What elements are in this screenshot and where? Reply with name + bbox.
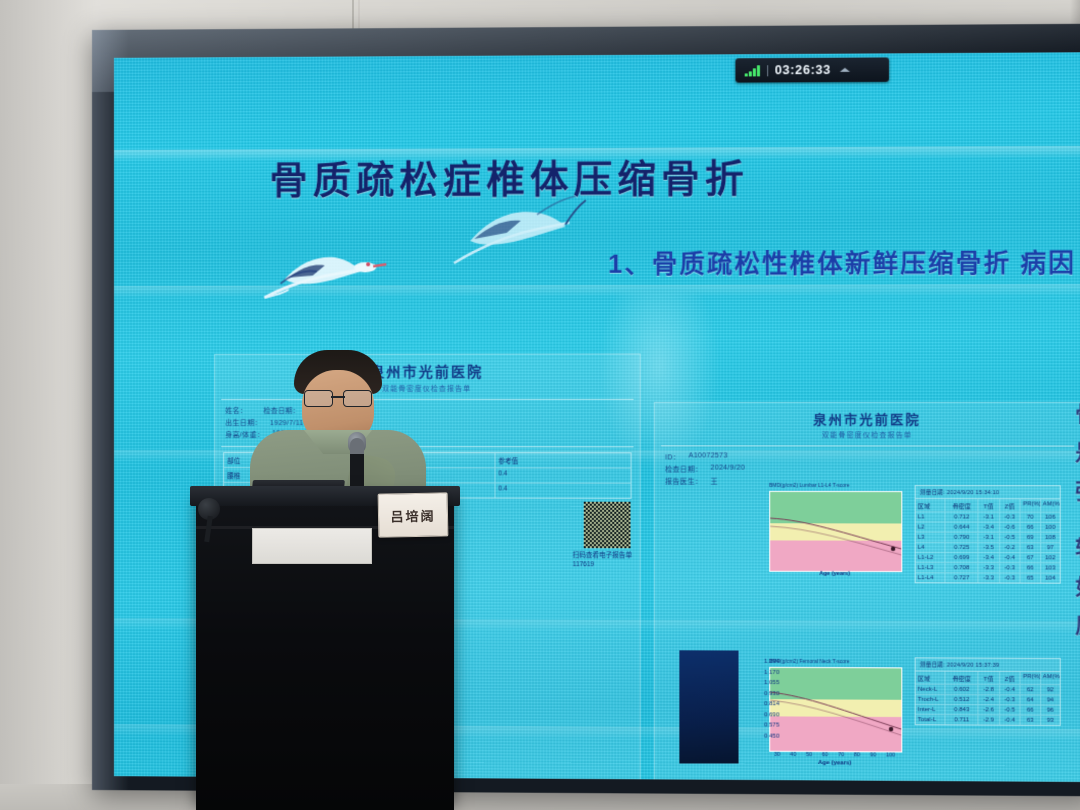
field-label: 姓名： — [225, 406, 247, 416]
cell: L1-L4 — [916, 573, 946, 582]
table-row: L1 0.712 -3.1 -0.3 70 106 — [916, 512, 1060, 522]
cell: -2.9 — [978, 715, 999, 724]
table-row: L3 0.790 -3.1 -0.5 69 108 — [916, 533, 1060, 543]
nameplate-text: 吕培阔 — [390, 505, 435, 525]
cell: 65 — [1021, 573, 1041, 582]
column-header: 区域 — [916, 671, 946, 683]
cell: 66 — [1021, 523, 1041, 532]
column-header: AM(%) — [1041, 499, 1060, 511]
table-row: L4 0.725 -3.5 -0.2 63 97 — [916, 543, 1060, 553]
cell: -0.4 — [1000, 553, 1021, 562]
chart-reference-curve — [770, 492, 901, 571]
cell: 0.708 — [946, 563, 979, 572]
cell: 102 — [1041, 553, 1060, 562]
table-row: Neck-L 0.602 -2.8 -0.4 62 92 — [916, 685, 1060, 696]
cell: L2 — [916, 523, 946, 532]
cell: 0.790 — [946, 533, 979, 542]
slide-subtitle: 1、骨质疏松性椎体新鲜压缩骨折 病因 — [608, 243, 1080, 281]
table-row: Troch-L 0.512 -2.4 -0.3 64 94 — [916, 695, 1060, 706]
cell: -0.3 — [1000, 513, 1021, 522]
cell: L1 — [916, 512, 946, 521]
field-value: A10072573 — [688, 452, 727, 462]
cell: 92 — [1041, 685, 1060, 694]
bmd-chart-femur-xlabel: Age (years) — [769, 760, 900, 767]
cell: 0.512 — [946, 695, 979, 704]
cell: -2.6 — [978, 705, 999, 714]
cell: 106 — [1041, 513, 1060, 522]
ytick: 0.450 — [745, 731, 780, 742]
field-value: 2024/9/20 — [710, 465, 745, 475]
cell: -0.2 — [1000, 543, 1021, 552]
cell: 97 — [1041, 543, 1060, 552]
cell: -2.4 — [978, 695, 999, 704]
report-field-row: 检查日期： 2024/9/20 — [655, 463, 1080, 476]
column-header: T值 — [978, 499, 999, 511]
column-header: 参考值 — [495, 453, 630, 467]
ytick: 1.170 — [745, 667, 780, 678]
cell: 64 — [1021, 695, 1041, 704]
cell: -0.5 — [1000, 533, 1021, 542]
cell: 100 — [1041, 523, 1060, 532]
cell: 63 — [1021, 716, 1041, 725]
cell: -0.3 — [1000, 563, 1021, 572]
table-row: Total-L 0.711 -2.9 -0.4 63 93 — [916, 715, 1060, 725]
cell: -0.6 — [1000, 523, 1021, 532]
cell: -2.8 — [978, 685, 999, 694]
dxa-scan-image — [679, 650, 738, 763]
column-header: 区域 — [916, 499, 946, 511]
cell: 0.602 — [946, 685, 979, 694]
caret-up-icon — [840, 68, 850, 72]
cell: -0.4 — [1000, 685, 1021, 694]
cell: 96 — [1041, 706, 1060, 715]
qr-code-icon — [584, 502, 631, 548]
divider — [661, 445, 1074, 446]
bmd-chart-lumbar — [769, 491, 902, 572]
bmd-chart-femur — [769, 667, 902, 753]
dxa-scan-axis-values: 1.294 1.170 1.055 0.930 0.814 0.690 0.57… — [745, 657, 780, 742]
report-subtitle: 双能骨密度仪检查报告单 — [655, 430, 1080, 440]
cell: 66 — [1021, 563, 1041, 572]
cell: 93 — [1041, 716, 1060, 725]
cell: 69 — [1021, 533, 1041, 542]
bmd-chart-femur-title: BMD(g/cm2) Femoral Neck T-score — [769, 659, 900, 666]
table-header-row: 区域 骨密度 T值 Z值 PR(%) AM(%) — [916, 671, 1060, 685]
cell: L1-L2 — [916, 553, 946, 562]
qr-number: 117619 — [573, 560, 654, 569]
cell: 0.711 — [946, 715, 979, 724]
cell: -3.4 — [978, 553, 999, 562]
cell: -3.1 — [978, 512, 999, 521]
cell: 0.712 — [946, 512, 979, 521]
session-timer: 03:26:33 — [775, 63, 831, 77]
cell: -0.3 — [1000, 573, 1021, 582]
ytick: 0.930 — [745, 688, 780, 699]
cell: -3.5 — [978, 543, 999, 552]
column-header: PR(%) — [1021, 499, 1041, 511]
column-header: 骨密度 — [946, 499, 979, 511]
cell: -3.4 — [978, 523, 999, 532]
cell: -3.3 — [978, 573, 999, 582]
cell: 70 — [1021, 513, 1041, 522]
ytick: 1.294 — [745, 657, 780, 668]
cell: -3.3 — [978, 563, 999, 572]
report-hospital-name: 泉州市光前医院 — [655, 403, 1080, 428]
dxa-results-table-lower: 测量日期: 2024/9/20 15:37:39 区域 骨密度 T值 Z值 PR… — [915, 657, 1061, 726]
column-header: 骨密度 — [946, 672, 979, 684]
table-row: L1-L4 0.727 -3.3 -0.3 65 104 — [916, 573, 1060, 583]
table-row: L2 0.644 -3.4 -0.6 66 100 — [916, 523, 1060, 533]
qr-caption-text: 扫码查看电子报告单 — [573, 551, 654, 560]
cell: 63 — [1021, 543, 1041, 552]
column-header: Z值 — [1000, 499, 1021, 511]
cell: 0.727 — [946, 573, 979, 582]
cell: Troch-L — [916, 695, 946, 704]
column-header: Z值 — [1000, 672, 1021, 684]
photo-scene: 03:26:33 — [0, 0, 1080, 810]
cell: Inter-L — [916, 705, 946, 714]
eyeglasses-icon — [304, 390, 372, 405]
table-row: L1-L2 0.699 -3.4 -0.4 67 102 — [916, 553, 1060, 563]
chart-reference-curve — [770, 668, 901, 752]
slide-title: 骨质疏松症椎体压缩骨折 — [269, 146, 981, 204]
wall-shadow — [0, 0, 96, 810]
cell: 104 — [1041, 574, 1060, 583]
column-header: T值 — [978, 672, 999, 684]
cell: 0.4 — [495, 483, 630, 497]
cell: 66 — [1021, 705, 1041, 714]
cell: 0.699 — [946, 553, 979, 562]
signal-bars-icon — [745, 65, 760, 76]
bmd-chart-lumbar-xlabel: Age (years) — [769, 571, 900, 577]
speaker-nameplate: 吕培阔 — [378, 492, 449, 537]
field-label: 检查日期： — [665, 465, 702, 475]
cell: L1-L3 — [916, 563, 946, 572]
dxa-results-table-upper: 测量日期: 2024/9/20 15:34:10 区域 骨密度 T值 Z值 PR… — [915, 485, 1061, 584]
table-header-row: 区域 骨密度 T值 Z值 PR(%) AM(%) — [916, 499, 1060, 512]
table-row: L1-L3 0.708 -3.3 -0.3 66 103 — [916, 563, 1060, 574]
crane-illustration — [254, 233, 387, 320]
ytick: 0.575 — [745, 720, 780, 731]
cell: 62 — [1021, 685, 1041, 694]
cell: 108 — [1041, 533, 1060, 542]
ytick: 0.690 — [745, 710, 780, 721]
cell: 0.725 — [946, 543, 979, 552]
cell: Neck-L — [916, 685, 946, 694]
cell: 103 — [1041, 563, 1060, 572]
cell: -0.4 — [1000, 715, 1021, 724]
field-label: ID： — [665, 452, 680, 462]
report-field-row: ID： A10072573 — [655, 451, 1080, 463]
column-header: AM(%) — [1041, 672, 1060, 684]
ytick: 0.814 — [745, 699, 780, 710]
cell: L4 — [916, 543, 946, 552]
cell: 0.843 — [946, 705, 979, 714]
table-caption: 测量日期: 2024/9/20 15:34:10 — [916, 486, 1060, 499]
cell: 0.644 — [946, 523, 979, 532]
divider — [767, 65, 768, 76]
cell: 94 — [1041, 695, 1060, 704]
status-bar: 03:26:33 — [735, 57, 889, 82]
bmd-chart-lumbar-title: BMD(g/cm2) Lumbar L1-L4 T-score — [769, 483, 900, 489]
podium-paper — [252, 528, 372, 564]
cell: 67 — [1021, 553, 1041, 562]
table-row: Inter-L 0.843 -2.6 -0.5 66 96 — [916, 705, 1060, 716]
field-label: 报告医生： — [665, 477, 702, 487]
cell: -0.3 — [1000, 695, 1021, 704]
cell: -3.1 — [978, 533, 999, 542]
column-header: PR(%) — [1021, 672, 1041, 684]
cell: Total-L — [916, 715, 946, 724]
table-caption: 测量日期: 2024/9/20 15:37:39 — [916, 658, 1060, 672]
ytick: 1.055 — [745, 678, 780, 689]
cell: -0.5 — [1000, 705, 1021, 714]
cell: L3 — [916, 533, 946, 542]
field-value: 王 — [710, 477, 717, 487]
qr-caption: 扫码查看电子报告单 117619 — [573, 551, 654, 569]
cell: 0.4 — [495, 468, 630, 482]
